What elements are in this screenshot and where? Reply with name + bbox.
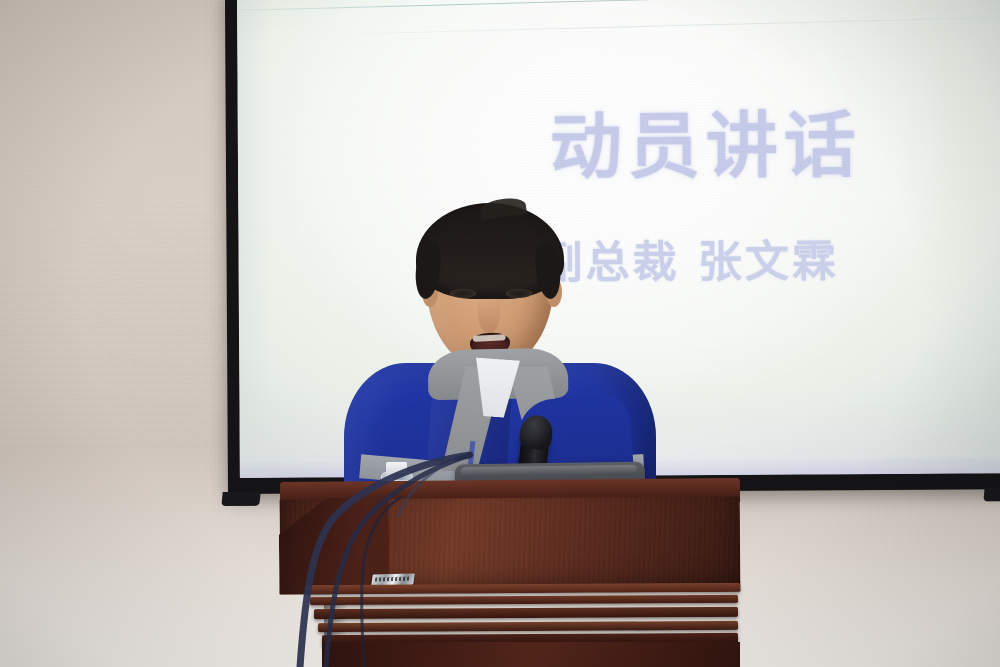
- cables: [0, 0, 1000, 667]
- cable-main: [300, 455, 470, 667]
- photo-scene: INDUSTRY 造 018，全慈未来 康泰塑胶科技集团有 动员讲话 副总裁 张…: [0, 0, 1000, 667]
- cable-thin: [362, 498, 400, 667]
- cable-secondary: [326, 455, 470, 667]
